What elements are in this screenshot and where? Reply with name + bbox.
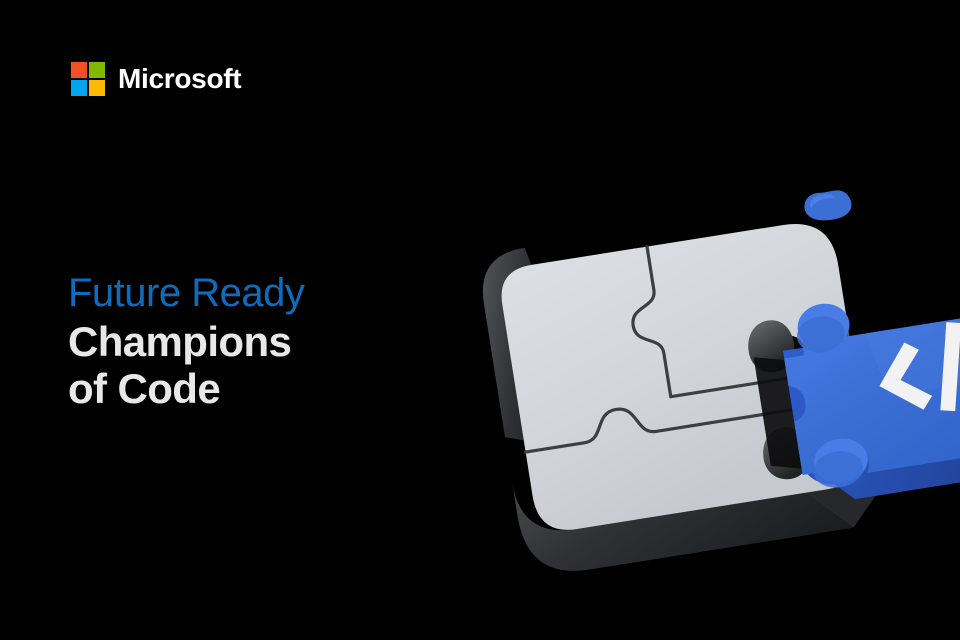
logo-green-square (89, 62, 105, 78)
logo-blue-square (71, 80, 87, 96)
logo-yellow-square (89, 80, 105, 96)
microsoft-logo-icon (71, 62, 105, 96)
headline-block: Future Ready Champions of Code (68, 272, 398, 412)
logo-red-square (71, 62, 87, 78)
microsoft-brand-lockup: Microsoft (71, 62, 241, 96)
headline-eyebrow: Future Ready (68, 272, 398, 315)
headline-title: Champions of Code (68, 318, 398, 412)
floating-puzzle-fragment (803, 188, 854, 224)
slide-canvas: Microsoft Future Ready Champions of Code (0, 0, 960, 640)
microsoft-wordmark: Microsoft (118, 65, 241, 93)
puzzle-code-illustration (455, 155, 960, 585)
